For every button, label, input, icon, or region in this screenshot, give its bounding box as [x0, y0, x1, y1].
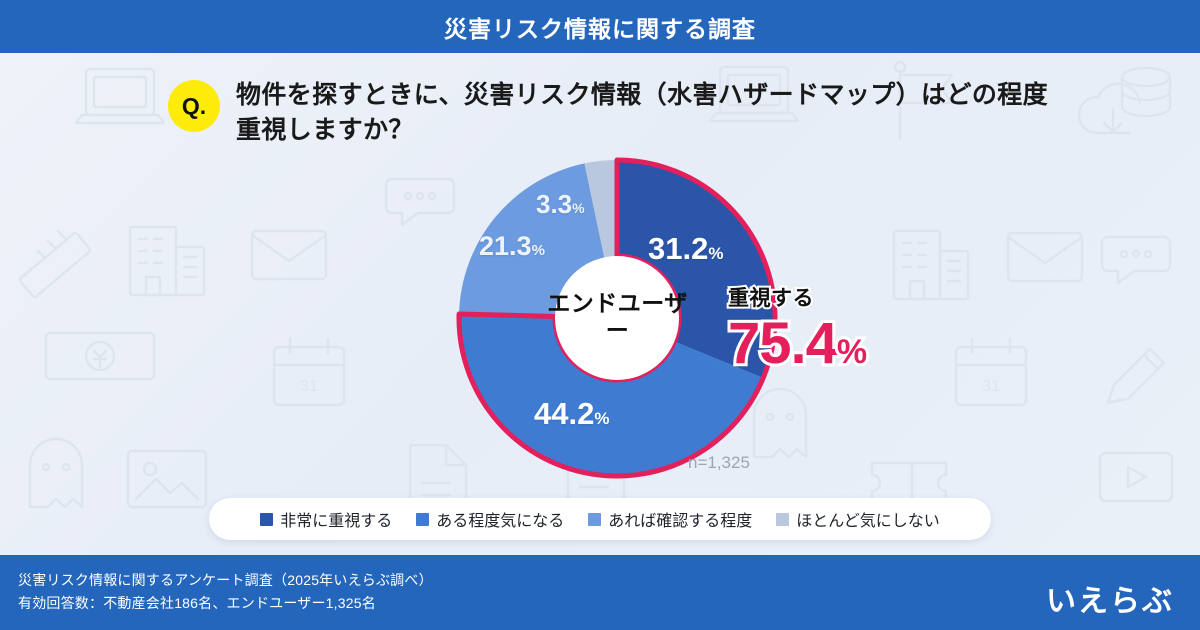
legend-label: あれば確認する程度	[608, 507, 752, 531]
brand-logo: いえらぶ	[1046, 576, 1174, 620]
footer-note: 災害リスク情報に関するアンケート調査（2025年いえらぶ調べ） 有効回答数：不動…	[18, 569, 433, 614]
legend-item-1[interactable]: ある程度気になる	[416, 507, 564, 531]
footer-line-2: 有効回答数：不動産会社186名、エンドユーザー1,325名	[18, 592, 433, 615]
legend-item-0[interactable]: 非常に重視する	[260, 507, 392, 531]
header-bar: 災害リスク情報に関する調査	[0, 0, 1200, 53]
legend-label: 非常に重視する	[280, 507, 392, 531]
donut-chart: 31.2% 44.2% 21.3% 3.3% エンドユーザー n=1,325 重…	[0, 53, 1200, 555]
footer-line-1: 災害リスク情報に関するアンケート調査（2025年いえらぶ調べ）	[18, 569, 433, 592]
callout-title: 重視する	[728, 282, 866, 312]
slice-label-4: 3.3%	[536, 189, 585, 220]
chart-legend: 非常に重視するある程度気になるあれば確認する程度ほとんど気にしない	[209, 498, 991, 540]
sample-size-label: n=1,325	[688, 453, 750, 473]
donut-center-label: エンドユーザー	[545, 290, 690, 344]
legend-item-2[interactable]: あれば確認する程度	[588, 507, 752, 531]
legend-label: ある程度気になる	[436, 507, 564, 531]
main-canvas: 31	[0, 53, 1200, 555]
callout-value: 75.4%	[728, 310, 866, 377]
legend-item-3[interactable]: ほとんど気にしない	[776, 507, 940, 531]
legend-swatch-icon	[776, 513, 789, 526]
slice-label-3: 21.3%	[479, 231, 545, 262]
legend-swatch-icon	[416, 513, 429, 526]
legend-label: ほとんど気にしない	[796, 507, 940, 531]
page-title: 災害リスク情報に関する調査	[444, 10, 756, 44]
legend-swatch-icon	[260, 513, 273, 526]
legend-swatch-icon	[588, 513, 601, 526]
footer-bar: 災害リスク情報に関するアンケート調査（2025年いえらぶ調べ） 有効回答数：不動…	[0, 555, 1200, 630]
slice-label-2: 44.2%	[534, 396, 609, 432]
highlight-callout: 重視する 75.4%	[728, 282, 866, 377]
slice-label-1: 31.2%	[648, 231, 723, 267]
